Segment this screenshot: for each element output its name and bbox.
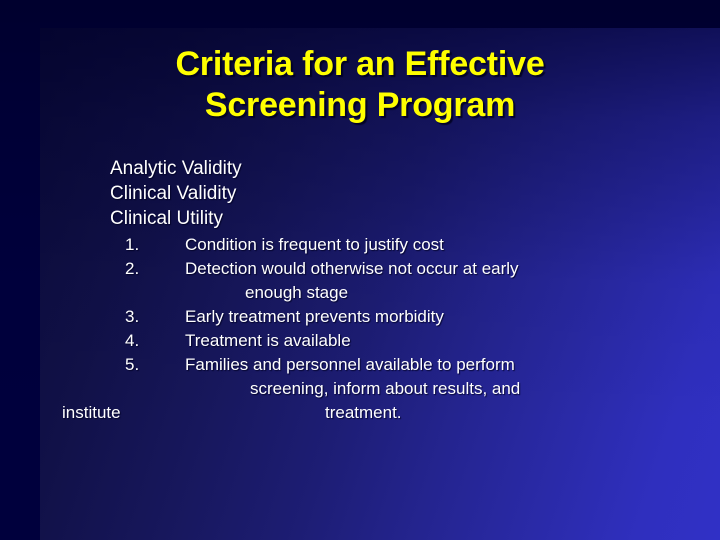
list-item: 5. Families and personnel available to p… — [0, 353, 720, 401]
list-item-text: Early treatment prevents morbidity — [185, 305, 720, 329]
list-item-text: Treatment is available — [185, 329, 720, 353]
list-item-text-continued: enough stage — [185, 281, 720, 305]
list-item-number: 1. — [125, 233, 165, 257]
slide-canvas: Criteria for an Effective Screening Prog… — [0, 0, 720, 540]
bullet-analytic-validity: Analytic Validity — [0, 156, 720, 181]
tail-indented-text: treatment. — [325, 401, 402, 425]
bullet-clinical-utility: Clinical Utility — [0, 206, 720, 231]
list-item-number: 5. — [125, 353, 165, 377]
slide-body: Analytic Validity Clinical Validity Clin… — [0, 156, 720, 425]
list-item: 4. Treatment is available — [0, 329, 720, 353]
list-item-number: 4. — [125, 329, 165, 353]
list-item-number: 3. — [125, 305, 165, 329]
list-item: 2. Detection would otherwise not occur a… — [0, 257, 720, 305]
slide-title: Criteria for an Effective Screening Prog… — [0, 44, 720, 127]
list-item-text-continued: screening, inform about results, and — [185, 377, 720, 401]
list-item: 1. Condition is frequent to justify cost — [0, 233, 720, 257]
numbered-list: 1. Condition is frequent to justify cost… — [0, 233, 720, 425]
list-item-number: 2. — [125, 257, 165, 281]
bullet-clinical-validity: Clinical Validity — [0, 181, 720, 206]
slide-title-line-2: Screening Program — [0, 85, 720, 126]
tail-orphan-text: institute — [62, 401, 121, 425]
slide-content: Criteria for an Effective Screening Prog… — [0, 0, 720, 540]
list-item-text: Condition is frequent to justify cost — [185, 233, 720, 257]
list-item-text: Families and personnel available to perf… — [185, 353, 720, 377]
list-item-text: Detection would otherwise not occur at e… — [185, 257, 720, 281]
list-item-tail: institute treatment. — [0, 401, 720, 425]
list-item: 3. Early treatment prevents morbidity — [0, 305, 720, 329]
slide-title-line-1: Criteria for an Effective — [0, 44, 720, 85]
